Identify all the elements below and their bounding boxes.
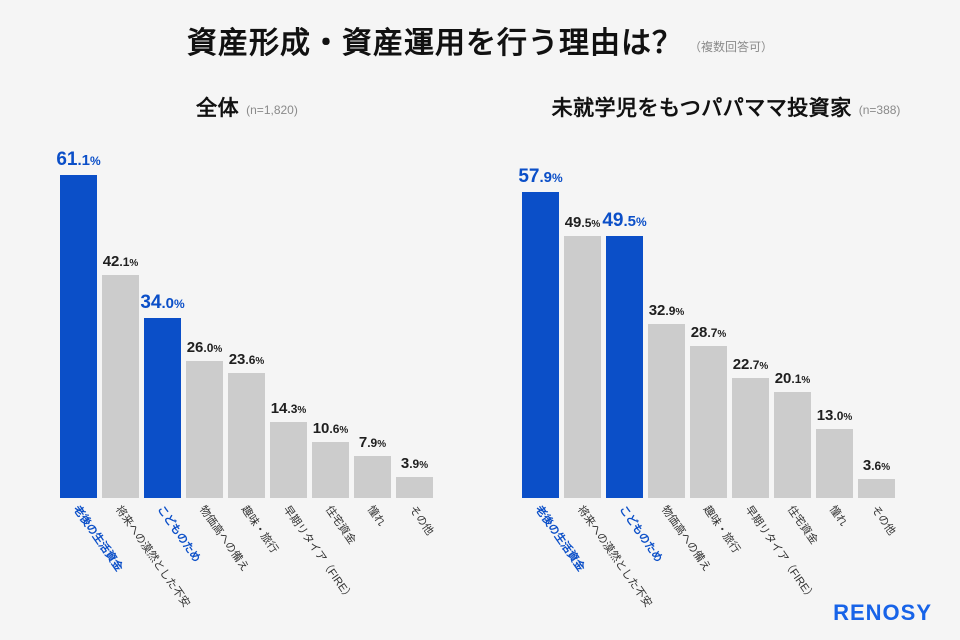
category-axis: 老後の生活資金将来への漠然とした不安こどものため物価高への備え趣味・旅行早期リタ… — [12, 502, 482, 612]
bar-value-label: 49.5% — [602, 211, 646, 230]
bar-column: 61.1% — [60, 128, 97, 498]
bar-value-label: 13.0% — [817, 408, 853, 423]
bar — [354, 456, 391, 498]
bar-value-label: 61.1% — [56, 150, 100, 169]
bar-group: 61.1%42.1%34.0%26.0%23.6%14.3%10.6%7.9%3… — [60, 128, 433, 498]
bar-value-label: 57.9% — [518, 167, 562, 186]
panel-title: 未就学児をもつパパママ投資家 — [552, 97, 852, 120]
category-label: 将来への漠然とした不安 — [112, 502, 195, 610]
bar-value-label: 42.1% — [103, 254, 139, 269]
bar — [228, 373, 265, 498]
page-header: 資産形成・資産運用を行う理由は？（複数回答可） — [0, 18, 960, 62]
bar-column: 49.5% — [564, 128, 601, 498]
page-title: 資産形成・資産運用を行う理由は？ — [187, 27, 683, 60]
renosy-logo: RENOSY — [833, 600, 932, 626]
bar-value-label: 23.6% — [229, 352, 265, 367]
panel-title: 全体 — [196, 97, 239, 120]
bar — [690, 346, 727, 498]
bar — [858, 479, 895, 498]
bar-column: 3.9% — [396, 128, 433, 498]
bar-value-label: 22.7% — [733, 357, 769, 372]
bar — [774, 392, 811, 498]
bar-column: 3.6% — [858, 128, 895, 498]
category-label: 憧れ — [826, 502, 852, 529]
category-label: 将来への漠然とした不安 — [574, 502, 657, 610]
bar-value-label: 10.6% — [313, 421, 349, 436]
category-label: 住宅資金 — [784, 502, 822, 547]
bar-value-label: 14.3% — [271, 401, 307, 416]
category-label: 憧れ — [364, 502, 390, 529]
category-axis: 老後の生活資金将来への漠然とした不安こどものため物価高への備え趣味・旅行早期リタ… — [492, 502, 960, 612]
bar-value-label: 49.5% — [565, 215, 601, 230]
bar — [648, 324, 685, 498]
bar-column: 42.1% — [102, 128, 139, 498]
bar-value-label: 26.0% — [187, 340, 223, 355]
bar-chart-plot: 57.9%49.5%49.5%32.9%28.7%22.7%20.1%13.0%… — [492, 128, 960, 498]
bar — [564, 236, 601, 498]
bar-column: 22.7% — [732, 128, 769, 498]
bar-group: 57.9%49.5%49.5%32.9%28.7%22.7%20.1%13.0%… — [522, 128, 895, 498]
bar-column: 14.3% — [270, 128, 307, 498]
panel-sample-size: (n=1,820) — [246, 103, 298, 117]
bar-value-label: 20.1% — [775, 371, 811, 386]
bar-value-label: 32.9% — [649, 303, 685, 318]
category-label: 住宅資金 — [322, 502, 360, 547]
panel-header: 未就学児をもつパパママ投資家(n=388) — [492, 92, 960, 120]
bar-column: 28.7% — [690, 128, 727, 498]
bar-value-label: 28.7% — [691, 325, 727, 340]
bar — [606, 236, 643, 498]
chart-panel-overall: 全体(n=1,820) 61.1%42.1%34.0%26.0%23.6%14.… — [12, 92, 482, 622]
bar — [102, 275, 139, 498]
bar — [816, 429, 853, 498]
category-label: その他 — [406, 502, 438, 538]
bar-column: 20.1% — [774, 128, 811, 498]
bar — [522, 192, 559, 498]
chart-panel-preschool-parents: 未就学児をもつパパママ投資家(n=388) 57.9%49.5%49.5%32.… — [492, 92, 960, 622]
bar-column: 13.0% — [816, 128, 853, 498]
bar — [396, 477, 433, 498]
bar-value-label: 7.9% — [359, 435, 386, 450]
bar — [144, 318, 181, 498]
bar-column: 23.6% — [228, 128, 265, 498]
bar-column: 7.9% — [354, 128, 391, 498]
bar — [186, 361, 223, 498]
bar-column: 26.0% — [186, 128, 223, 498]
bar — [60, 175, 97, 498]
page-subtitle-note: （複数回答可） — [689, 40, 773, 54]
bar-value-label: 3.9% — [401, 456, 428, 471]
bar — [732, 378, 769, 498]
bar-column: 49.5% — [606, 128, 643, 498]
panel-header: 全体(n=1,820) — [12, 92, 482, 120]
category-label: 趣味・旅行 — [700, 502, 745, 556]
bar-column: 34.0% — [144, 128, 181, 498]
bar — [270, 422, 307, 498]
category-label: 趣味・旅行 — [238, 502, 283, 556]
bar-column: 57.9% — [522, 128, 559, 498]
bar-column: 10.6% — [312, 128, 349, 498]
bar-column: 32.9% — [648, 128, 685, 498]
bar-value-label: 3.6% — [863, 458, 890, 473]
bar-chart-plot: 61.1%42.1%34.0%26.0%23.6%14.3%10.6%7.9%3… — [12, 128, 482, 498]
panel-sample-size: (n=388) — [859, 103, 901, 117]
category-label: その他 — [868, 502, 900, 538]
bar-value-label: 34.0% — [140, 293, 184, 312]
bar — [312, 442, 349, 498]
